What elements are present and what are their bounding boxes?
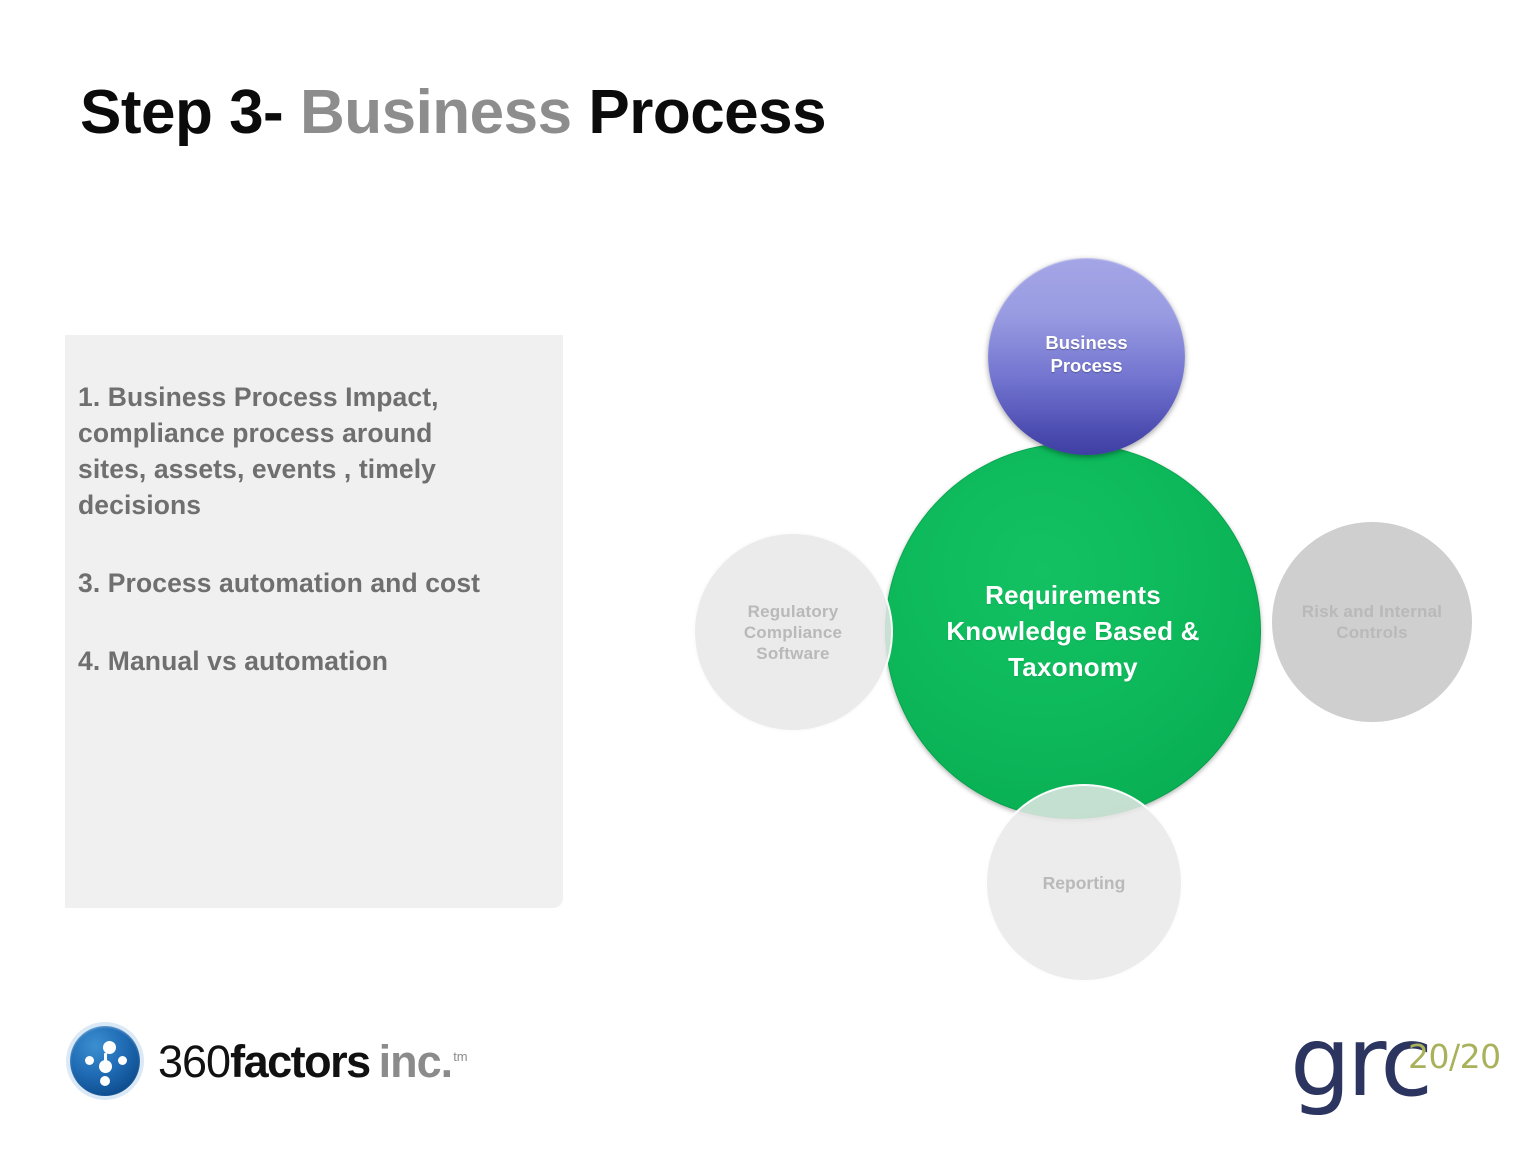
wordmark-trademark: tm	[453, 1049, 467, 1064]
title-segment-process: Process	[572, 78, 827, 147]
list-item: 4. Manual vs automation	[78, 643, 535, 679]
diagram-node-reporting[interactable]: Reporting	[985, 784, 1183, 982]
venn-diagram: Risk and Internal Controls Requirements …	[660, 240, 1510, 1000]
risk-line-2: Controls	[1336, 623, 1407, 642]
mark-dot-middle	[99, 1060, 112, 1073]
bullet-panel: 1. Business Process Impact, compliance p…	[65, 335, 563, 908]
diagram-node-risk-and-internal-controls[interactable]: Risk and Internal Controls	[1272, 522, 1472, 722]
diagram-node-business-label: Business Process	[988, 331, 1185, 377]
360factors-wordmark: 360factorsinc.tm	[158, 1039, 468, 1084]
wordmark-360: 360	[158, 1036, 230, 1087]
mark-dot-bottom	[100, 1076, 110, 1086]
title-segment-step: Step 3-	[80, 78, 300, 147]
diagram-node-requirements-knowledge-taxonomy[interactable]: Requirements Knowledge Based & Taxonomy	[885, 443, 1261, 819]
360factors-mark-icon	[70, 1026, 140, 1096]
wordmark-factors: factors	[230, 1036, 370, 1087]
title-segment-business: Business	[300, 78, 572, 147]
grc-2020-badge: 20/20	[1408, 1040, 1501, 1073]
regulatory-line-3: Software	[756, 644, 829, 663]
business-line-1: Business	[1045, 332, 1127, 353]
list-item: 3. Process automation and cost	[78, 565, 535, 601]
diagram-node-business-process[interactable]: Business Process	[988, 258, 1185, 455]
bullet-1-line-3: sites, assets, events , timely	[78, 451, 535, 487]
diagram-node-regulatory-compliance-software[interactable]: Regulatory Compliance Software	[693, 532, 893, 732]
list-item: 1. Business Process Impact, compliance p…	[78, 379, 535, 523]
page-title: Step 3- Business Process	[80, 82, 826, 144]
diagram-node-reporting-label: Reporting	[987, 873, 1181, 894]
bullet-1-line-2: compliance process around	[78, 415, 535, 451]
wordmark-inc: inc.	[379, 1036, 453, 1087]
bullet-1-line-1: 1. Business Process Impact,	[78, 379, 535, 415]
mark-dot-right	[118, 1056, 127, 1065]
diagram-node-center-label: Requirements Knowledge Based & Taxonomy	[885, 577, 1261, 685]
regulatory-line-1: Regulatory	[748, 602, 839, 621]
logo-grc-2020: grc 20/20	[1290, 1012, 1490, 1112]
bullet-3: 4. Manual vs automation	[78, 643, 535, 679]
diagram-node-regulatory-label: Regulatory Compliance Software	[695, 601, 891, 664]
logo-360factors: 360factorsinc.tm	[70, 1022, 468, 1100]
center-line-1: Requirements	[985, 580, 1161, 610]
center-line-2: Knowledge Based &	[946, 616, 1199, 646]
regulatory-line-2: Compliance	[744, 623, 842, 642]
center-line-3: Taxonomy	[1008, 652, 1138, 682]
mark-dot-left	[85, 1056, 94, 1065]
business-line-2: Process	[1051, 355, 1123, 376]
bullet-2: 3. Process automation and cost	[78, 565, 535, 601]
diagram-node-risk-label: Risk and Internal Controls	[1272, 601, 1472, 643]
risk-line-1: Risk and Internal	[1302, 602, 1442, 621]
bullet-1-line-4: decisions	[78, 487, 535, 523]
